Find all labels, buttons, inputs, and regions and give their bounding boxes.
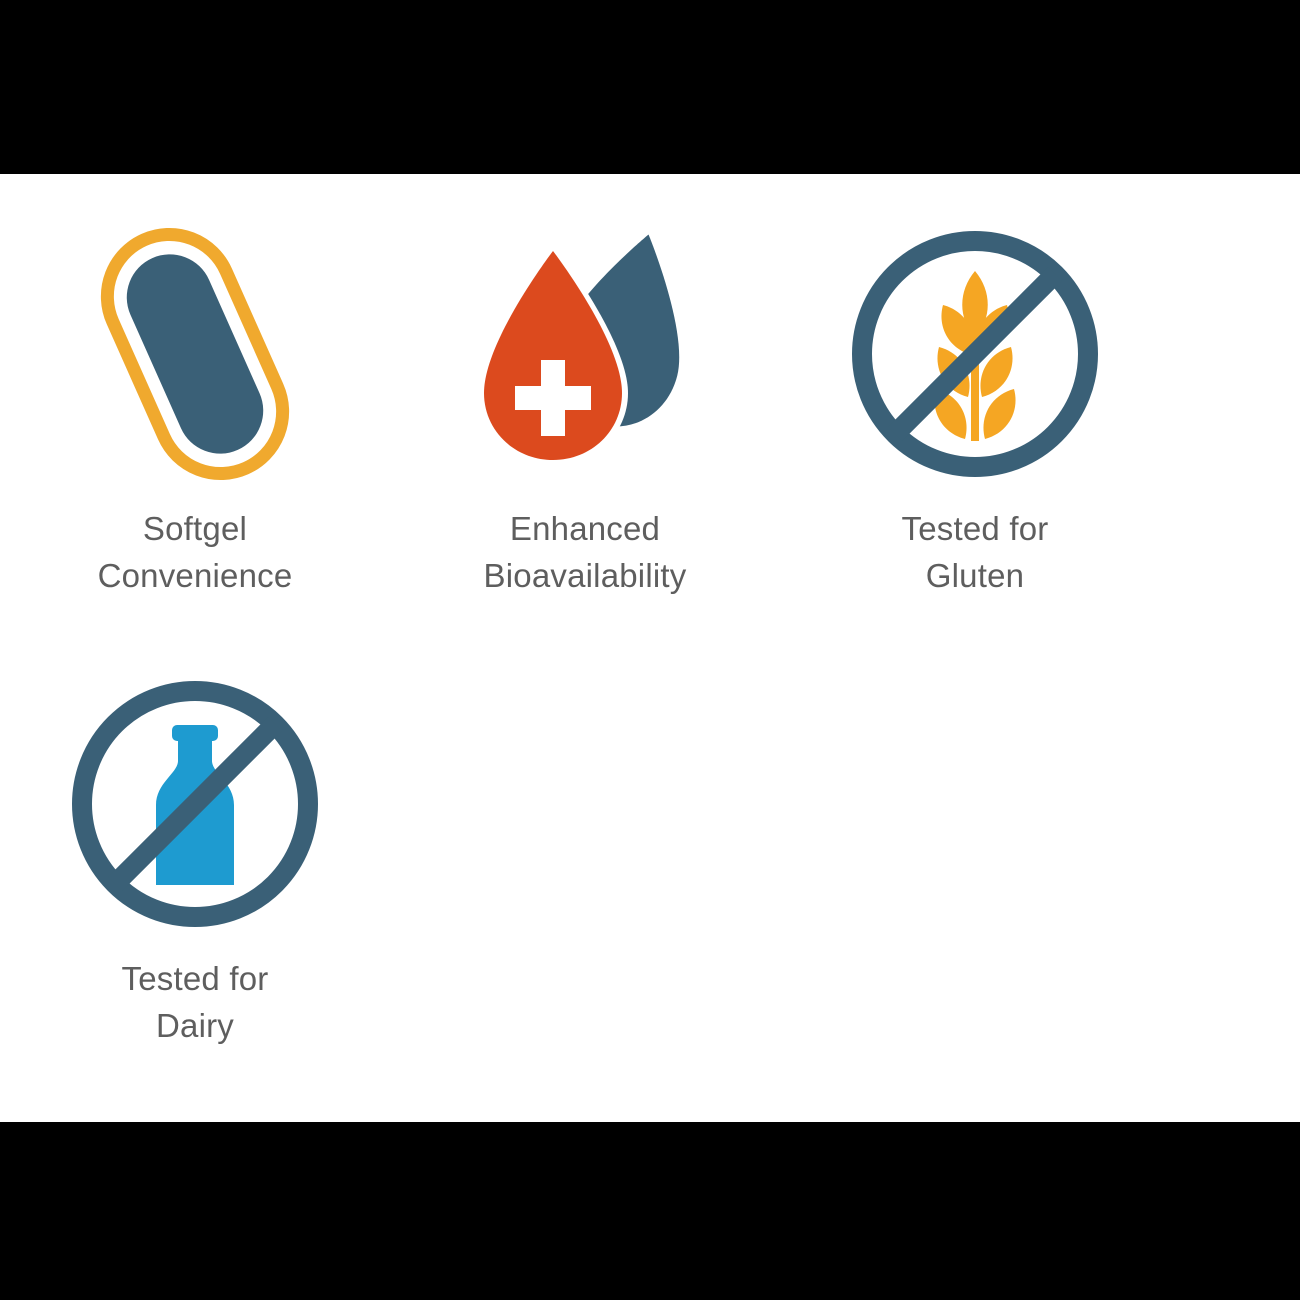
product-benefit-badges-panel: Softgel Convenience Enhanced Bioavailabi… [0, 174, 1300, 1122]
letterbox-bar-bottom [0, 1122, 1300, 1300]
image-viewport: Softgel Convenience Enhanced Bioavailabi… [0, 0, 1300, 1300]
no-wheat-icon [840, 219, 1110, 489]
no-dairy-bottle-icon [60, 669, 330, 939]
badge-softgel-convenience[interactable]: Softgel Convenience [0, 174, 390, 624]
badge-tested-for-gluten[interactable]: Tested for Gluten [780, 174, 1170, 624]
droplets-plus-icon [450, 219, 720, 489]
softgel-capsule-icon [60, 219, 330, 489]
letterbox-bar-top [0, 0, 1300, 174]
badge-tested-for-dairy[interactable]: Tested for Dairy [0, 624, 390, 1074]
badge-label: Tested for Dairy [45, 955, 345, 1049]
badge-enhanced-bioavailability[interactable]: Enhanced Bioavailability [390, 174, 780, 624]
badge-grid: Softgel Convenience Enhanced Bioavailabi… [0, 174, 1300, 1074]
badge-label: Softgel Convenience [45, 505, 345, 599]
badge-label: Enhanced Bioavailability [435, 505, 735, 599]
badge-label: Tested for Gluten [825, 505, 1125, 599]
